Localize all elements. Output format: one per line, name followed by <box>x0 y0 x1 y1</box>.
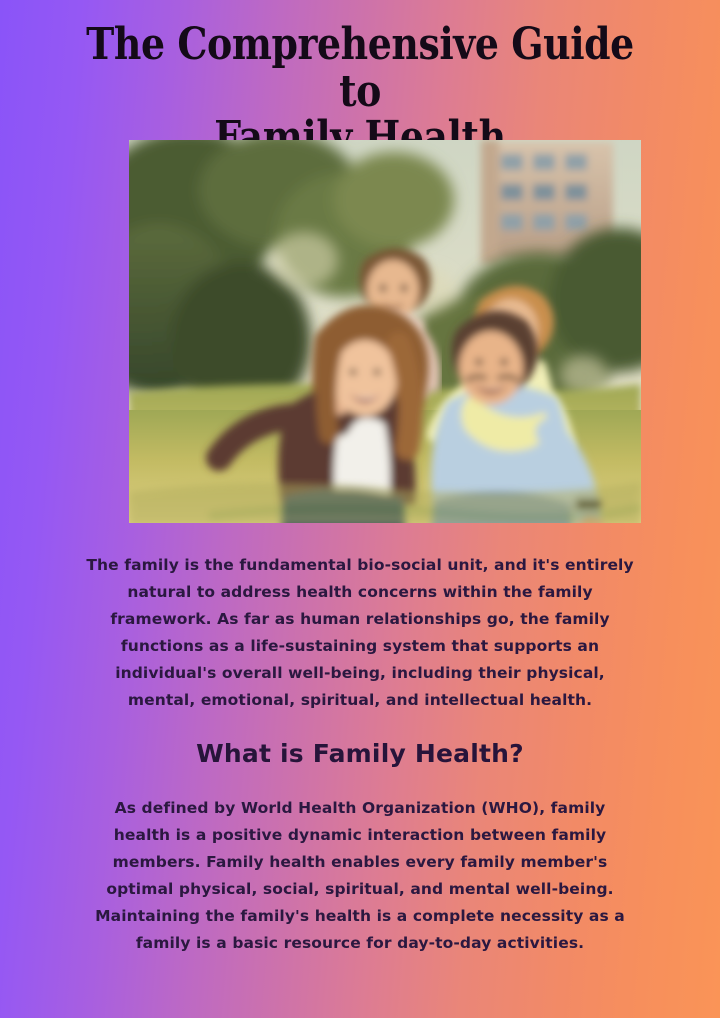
family-photo <box>129 140 641 523</box>
poster-root: The Comprehensive Guide to Family Health <box>0 0 720 1018</box>
definition-paragraph: As defined by World Health Organization … <box>85 795 635 957</box>
section-heading: What is Family Health? <box>0 739 720 768</box>
family-in-park-photo <box>129 140 641 523</box>
title-line-1: The Comprehensive Guide to <box>85 22 635 115</box>
intro-paragraph: The family is the fundamental bio-social… <box>85 552 635 714</box>
